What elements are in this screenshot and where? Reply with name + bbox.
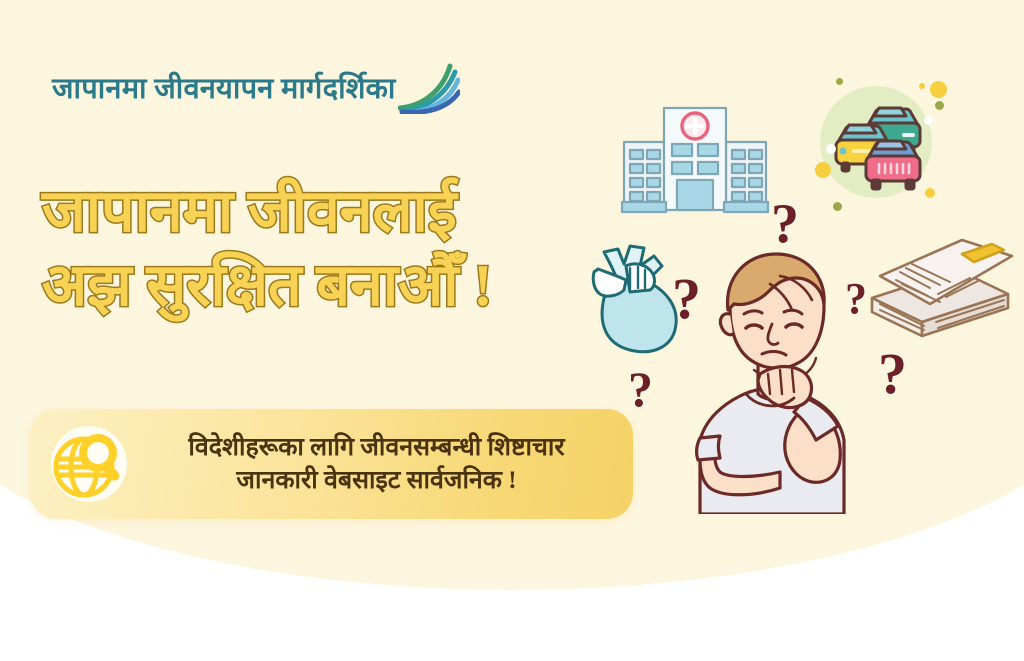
website-announcement-banner[interactable]: विदेशीहरूका लागि जीवनसम्बन्धी शिष्टाचार … — [30, 409, 633, 519]
page-title: जापानमा जीवनलाई अझ सुरक्षित बनाऔँ ! — [42, 174, 642, 323]
headline-line-2: अझ सुरक्षित बनाऔँ ! — [42, 248, 642, 322]
banner-line-1: विदेशीहरूका लागि जीवनसम्बन्धी शिष्टाचार — [138, 431, 615, 464]
logo-text: जापानमा जीवनयापन मार्गदर्शिका — [52, 75, 396, 104]
banner-text: विदेशीहरूका लागि जीवनसम्बन्धी शिष्टाचार … — [138, 431, 633, 497]
swoosh-icon — [398, 62, 460, 114]
site-logo[interactable]: जापानमा जीवनयापन मार्गदर्शिका — [52, 62, 460, 104]
poster-canvas: जापानमा जीवनयापन मार्गदर्शिका जापानमा जी… — [0, 0, 1024, 661]
banner-line-2: जानकारी वेबसाइट सार्वजनिक ! — [138, 464, 615, 497]
headline-line-1: जापानमा जीवनलाई — [42, 174, 642, 248]
globe-magnifier-icon — [48, 423, 130, 505]
